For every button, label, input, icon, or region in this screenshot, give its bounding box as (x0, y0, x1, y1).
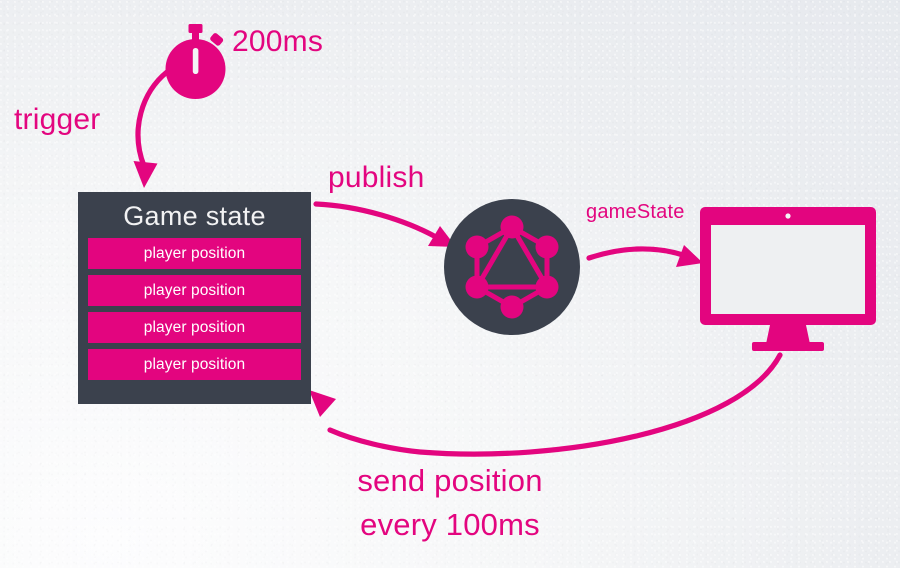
gamestate-arrow (589, 245, 703, 267)
list-item: player position (88, 275, 301, 306)
send-position-caption-line1: send position (357, 463, 542, 498)
stopwatch-icon (166, 24, 226, 99)
timer-interval-label: 200ms (232, 25, 323, 59)
send-position-caption-line2: every 100ms (0, 503, 900, 547)
desktop-monitor-icon (700, 207, 876, 351)
publish-arrow-label: publish (328, 161, 424, 195)
player-position-list: player position player position player p… (88, 238, 301, 380)
send-position-caption: send position every 100ms (0, 459, 900, 547)
diagram-canvas: Game state player position player positi… (0, 0, 900, 568)
send-position-arrow (309, 355, 780, 454)
game-state-title: Game state (88, 198, 301, 236)
trigger-arrow-label: trigger (14, 103, 100, 137)
list-item: player position (88, 238, 301, 269)
list-item: player position (88, 349, 301, 380)
trigger-arrow (134, 72, 168, 188)
gamestate-arrow-label: gameState (586, 201, 685, 224)
graphql-logo-icon (444, 199, 580, 335)
game-state-panel: Game state player position player positi… (78, 192, 311, 404)
publish-arrow (316, 204, 456, 247)
list-item: player position (88, 312, 301, 343)
